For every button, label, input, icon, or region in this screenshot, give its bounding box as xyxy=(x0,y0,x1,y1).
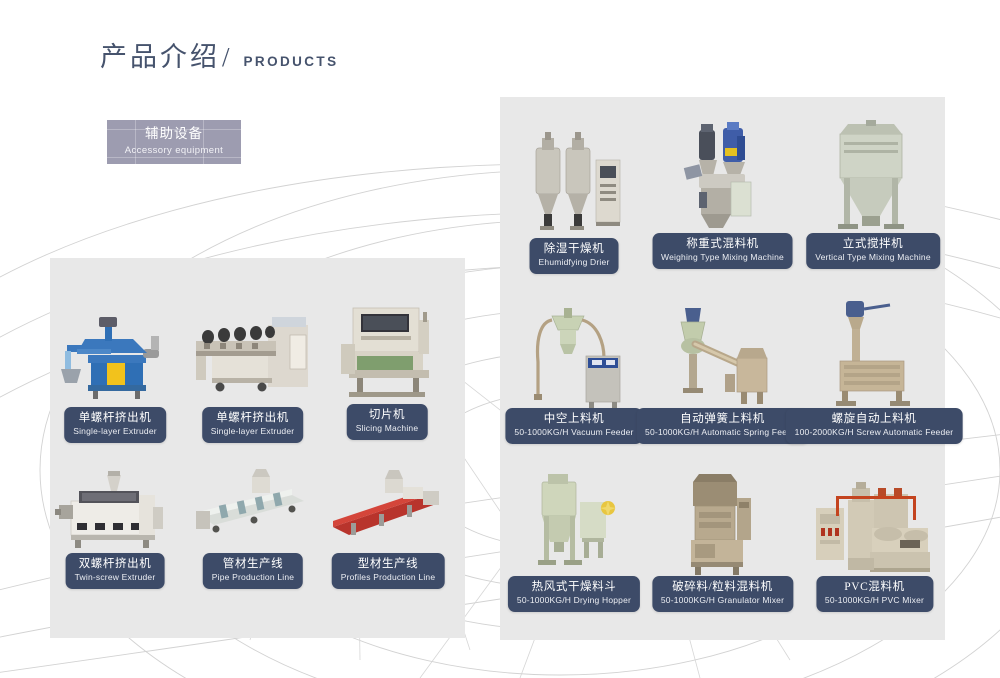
product-badge[interactable]: 热风式干燥料斗 50-1000KG/H Drying Hopper xyxy=(508,576,640,612)
product-label-cn: 破碎料/粒料混料机 xyxy=(661,580,784,594)
product-cell[interactable]: 破碎料/粒料混料机 50-1000KG/H Granulator Mixer xyxy=(665,468,780,603)
weighing-mixing-machine-photo xyxy=(665,118,780,236)
product-badge[interactable]: 螺旋自动上料机 100-2000KG/H Screw Automatic Fee… xyxy=(786,408,963,444)
product-badge[interactable]: 称重式混料机 Weighing Type Mixing Machine xyxy=(652,233,793,269)
product-cell[interactable]: 称重式混料机 Weighing Type Mixing Machine xyxy=(665,118,780,265)
product-cell[interactable]: 立式搅拌机 Vertical Type Mixing Machine xyxy=(818,120,928,265)
product-label-en: Vertical Type Mixing Machine xyxy=(815,252,931,263)
product-label-en: Twin-screw Extruder xyxy=(75,572,156,583)
automatic-spring-feeder-photo xyxy=(665,300,780,410)
product-label-cn: 管材生产线 xyxy=(212,557,294,571)
product-label-en: Profiles Production Line xyxy=(341,572,436,583)
product-label-cn: 螺旋自动上料机 xyxy=(795,412,954,426)
product-label-en: Single-layer Extruder xyxy=(211,426,295,437)
product-label-cn: 热风式干燥料斗 xyxy=(517,580,631,594)
product-label-cn: 双螺杆挤出机 xyxy=(75,557,156,571)
dehumidifying-drier-photo xyxy=(518,130,630,240)
vacuum-feeder-photo xyxy=(518,300,630,410)
product-badge[interactable]: 单螺杆挤出机 Single-layer Extruder xyxy=(202,407,304,443)
product-label-en: Single-layer Extruder xyxy=(73,426,157,437)
vertical-mixing-machine-photo xyxy=(818,120,928,236)
roller-line-extruder-photo xyxy=(190,305,315,405)
product-badge[interactable]: 管材生产线 Pipe Production Line xyxy=(203,553,303,589)
product-cell[interactable]: 除湿干燥机 Ehumidfying Drier xyxy=(518,130,630,265)
product-label-cn: PVC混料机 xyxy=(825,580,924,594)
product-cell[interactable]: 单螺杆挤出机 Single-layer Extruder xyxy=(55,305,175,435)
page-title: 产品介绍 / PRODUCTS xyxy=(100,44,338,71)
page-title-en: PRODUCTS xyxy=(244,55,339,69)
product-label-en: 50-1000KG/H Granulator Mixer xyxy=(661,595,784,606)
product-cell[interactable]: 热风式干燥料斗 50-1000KG/H Drying Hopper xyxy=(518,468,630,603)
product-label-en: 100-2000KG/H Screw Automatic Feeder xyxy=(795,427,954,438)
page-canvas: 产品介绍 / PRODUCTS 辅助设备 Accessory equipment xyxy=(0,0,1000,678)
product-badge[interactable]: PVC混料机 50-1000KG/H PVC Mixer xyxy=(816,576,933,612)
product-label-cn: 自动弹簧上料机 xyxy=(645,412,800,426)
product-badge[interactable]: 中空上料机 50-1000KG/H Vacuum Feeder xyxy=(505,408,642,444)
product-badge[interactable]: 自动弹簧上料机 50-1000KG/H Automatic Spring Fee… xyxy=(636,408,809,444)
pipe-production-line-photo xyxy=(192,465,314,555)
granulator-mixer-photo xyxy=(665,468,780,578)
screw-automatic-feeder-photo xyxy=(818,295,930,409)
category-tag-label-cn: 辅助设备 xyxy=(145,126,203,143)
product-label-cn: 型材生产线 xyxy=(341,557,436,571)
product-label-en: 50-1000KG/H PVC Mixer xyxy=(825,595,924,606)
product-badge[interactable]: 双螺杆挤出机 Twin-screw Extruder xyxy=(66,553,165,589)
product-label-cn: 单螺杆挤出机 xyxy=(211,411,295,425)
product-badge[interactable]: 单螺杆挤出机 Single-layer Extruder xyxy=(64,407,166,443)
product-cell[interactable]: 螺旋自动上料机 100-2000KG/H Screw Automatic Fee… xyxy=(818,295,930,435)
product-cell[interactable]: 中空上料机 50-1000KG/H Vacuum Feeder xyxy=(518,300,630,435)
category-tag-accessory-equipment[interactable]: 辅助设备 Accessory equipment xyxy=(107,120,241,164)
product-label-cn: 除湿干燥机 xyxy=(539,242,610,256)
product-label-cn: 切片机 xyxy=(356,408,419,422)
product-badge[interactable]: 切片机 Slicing Machine xyxy=(347,404,428,440)
product-label-cn: 单螺杆挤出机 xyxy=(73,411,157,425)
product-cell[interactable]: 双螺杆挤出机 Twin-screw Extruder xyxy=(55,465,175,585)
product-badge[interactable]: 型材生产线 Profiles Production Line xyxy=(332,553,445,589)
pvc-mixer-photo xyxy=(812,470,937,578)
product-label-cn: 称重式混料机 xyxy=(661,237,784,251)
product-badge[interactable]: 除湿干燥机 Ehumidfying Drier xyxy=(530,238,619,274)
drying-hopper-photo xyxy=(518,468,630,578)
product-cell[interactable]: 管材生产线 Pipe Production Line xyxy=(192,465,314,585)
product-label-en: Slicing Machine xyxy=(356,423,419,434)
product-cell[interactable]: 型材生产线 Profiles Production Line xyxy=(327,465,449,585)
product-label-en: 50-1000KG/H Drying Hopper xyxy=(517,595,631,606)
page-title-cn: 产品介绍 xyxy=(100,44,220,71)
product-label-en: Ehumidfying Drier xyxy=(539,257,610,268)
product-badge[interactable]: 破碎料/粒料混料机 50-1000KG/H Granulator Mixer xyxy=(652,576,793,612)
category-tag-label-en: Accessory equipment xyxy=(125,144,223,157)
product-label-cn: 立式搅拌机 xyxy=(815,237,931,251)
page-title-separator: / xyxy=(222,44,230,71)
product-label-en: 50-1000KG/H Automatic Spring Feeder xyxy=(645,427,800,438)
product-badge[interactable]: 立式搅拌机 Vertical Type Mixing Machine xyxy=(806,233,940,269)
profiles-production-line-photo xyxy=(327,465,449,555)
product-cell[interactable]: 自动弹簧上料机 50-1000KG/H Automatic Spring Fee… xyxy=(665,300,780,435)
product-cell[interactable]: 单螺杆挤出机 Single-layer Extruder xyxy=(190,305,315,435)
twin-screw-extruder-photo xyxy=(55,465,175,555)
product-label-en: 50-1000KG/H Vacuum Feeder xyxy=(514,427,633,438)
product-label-cn: 中空上料机 xyxy=(514,412,633,426)
slicing-machine-photo xyxy=(327,300,447,405)
product-label-en: Pipe Production Line xyxy=(212,572,294,583)
product-cell[interactable]: 切片机 Slicing Machine xyxy=(327,300,447,435)
product-cell[interactable]: PVC混料机 50-1000KG/H PVC Mixer xyxy=(812,470,937,603)
product-label-en: Weighing Type Mixing Machine xyxy=(661,252,784,263)
single-layer-extruder-photo xyxy=(55,305,175,405)
